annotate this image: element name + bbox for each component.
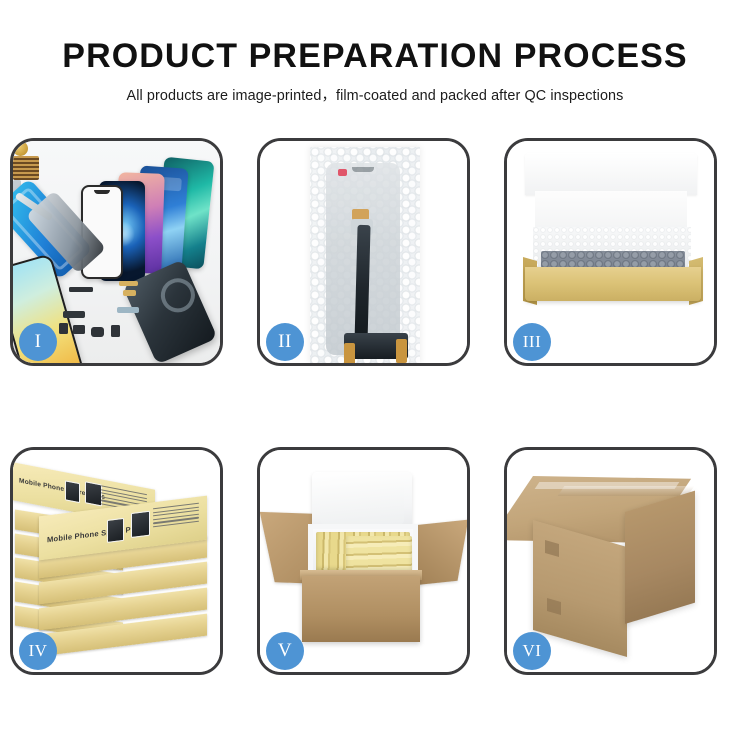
- vibration-motor-icon: [13, 141, 28, 156]
- lid-front-spec-lines: [153, 503, 199, 530]
- header: PRODUCT PREPARATION PROCESS All products…: [0, 0, 750, 105]
- camera-module-b-icon: [73, 325, 85, 334]
- step-panel-3[interactable]: III: [504, 138, 717, 366]
- camera-module-c-icon: [91, 327, 104, 337]
- carton-right-face-icon: [625, 491, 695, 624]
- page-subtitle: All products are image-printed，film-coat…: [0, 84, 750, 105]
- step-panel-2[interactable]: II: [257, 138, 470, 366]
- flex-cable-b-icon: [123, 290, 136, 296]
- lid-front-screen-graphic-2: [131, 511, 150, 538]
- carton-front-icon: [302, 576, 420, 642]
- carton-top-seam-icon: [558, 486, 695, 496]
- step-panel-6[interactable]: VI: [504, 447, 717, 675]
- flex-cable-d-icon: [117, 307, 139, 313]
- step-badge-2: II: [266, 323, 304, 361]
- flex-tab-right-icon: [396, 339, 407, 363]
- process-steps-grid: I II: [10, 138, 740, 675]
- connector-grid-icon: [13, 156, 39, 180]
- lid-front-screen-graphic-1: [107, 518, 124, 543]
- step-badge-6: VI: [513, 632, 551, 670]
- lid-rear-screen-graphic-1: [65, 480, 80, 503]
- flex-tab-left-icon: [344, 343, 355, 363]
- bubble-wrap-bag-icon: [310, 147, 420, 363]
- box-lid-icon: [525, 153, 697, 195]
- step-panel-5[interactable]: V: [257, 447, 470, 675]
- qc-sticker-icon: [338, 169, 347, 176]
- camera-module-d-icon: [111, 325, 120, 337]
- lid-rear-screen-graphic-2: [85, 481, 102, 506]
- step-badge-1: I: [19, 323, 57, 361]
- flex-cable-a-icon: [119, 281, 138, 286]
- earpiece-part-icon: [69, 287, 93, 292]
- product-preparation-infographic: PRODUCT PREPARATION PROCESS All products…: [0, 0, 750, 750]
- flex-cable-c-icon: [63, 311, 85, 318]
- yellow-boxes-row-2-icon: [346, 536, 412, 572]
- kraft-box-front-icon: [525, 267, 701, 301]
- camera-module-a-icon: [59, 323, 68, 334]
- page-title: PRODUCT PREPARATION PROCESS: [0, 36, 750, 76]
- step-badge-4: IV: [19, 632, 57, 670]
- step-panel-4[interactable]: Mobile Phone Spare Parts Mobile Phone Sp…: [10, 447, 223, 675]
- step-badge-5: V: [266, 632, 304, 670]
- step-badge-3: III: [513, 323, 551, 361]
- step-panel-1[interactable]: I: [10, 138, 223, 366]
